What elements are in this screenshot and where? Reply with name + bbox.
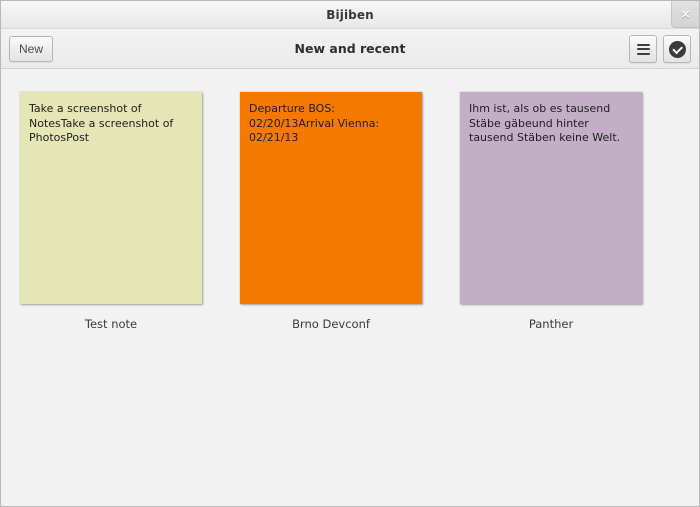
window-title: Bijiben xyxy=(326,8,373,22)
note-card-panther[interactable]: Ihm ist, als ob es tausend Stäbe gäbeund… xyxy=(460,92,642,304)
application-window: Bijiben × New New and recent Take a scre… xyxy=(0,0,700,507)
close-icon: × xyxy=(680,8,690,20)
selection-mode-button[interactable] xyxy=(663,35,691,63)
note-cell: Take a screenshot of NotesTake a screens… xyxy=(1,92,221,331)
note-title: Panther xyxy=(529,317,573,331)
hamburger-menu-icon xyxy=(637,44,650,55)
note-body: Ihm ist, als ob es tausend Stäbe gäbeund… xyxy=(469,102,630,146)
close-button[interactable]: × xyxy=(671,1,699,28)
title-bar: Bijiben × xyxy=(1,1,699,29)
note-body: Take a screenshot of NotesTake a screens… xyxy=(29,102,190,146)
check-circle-icon xyxy=(669,41,686,58)
note-title: Test note xyxy=(85,317,137,331)
hamburger-menu-button[interactable] xyxy=(629,35,657,63)
note-card-brno-devconf[interactable]: Departure BOS: 02/20/13Arrival Vienna: 0… xyxy=(240,92,422,304)
note-card-test-note[interactable]: Take a screenshot of NotesTake a screens… xyxy=(20,92,202,304)
new-note-button[interactable]: New xyxy=(9,36,53,62)
toolbar-actions xyxy=(629,29,691,69)
note-body: Departure BOS: 02/20/13Arrival Vienna: 0… xyxy=(249,102,410,146)
notes-grid: Take a screenshot of NotesTake a screens… xyxy=(1,69,699,331)
note-cell: Ihm ist, als ob es tausend Stäbe gäbeund… xyxy=(441,92,661,331)
view-title: New and recent xyxy=(1,41,699,56)
toolbar: New New and recent xyxy=(1,29,699,69)
note-title: Brno Devconf xyxy=(292,317,370,331)
note-cell: Departure BOS: 02/20/13Arrival Vienna: 0… xyxy=(221,92,441,331)
notes-content-area: Take a screenshot of NotesTake a screens… xyxy=(1,69,699,506)
